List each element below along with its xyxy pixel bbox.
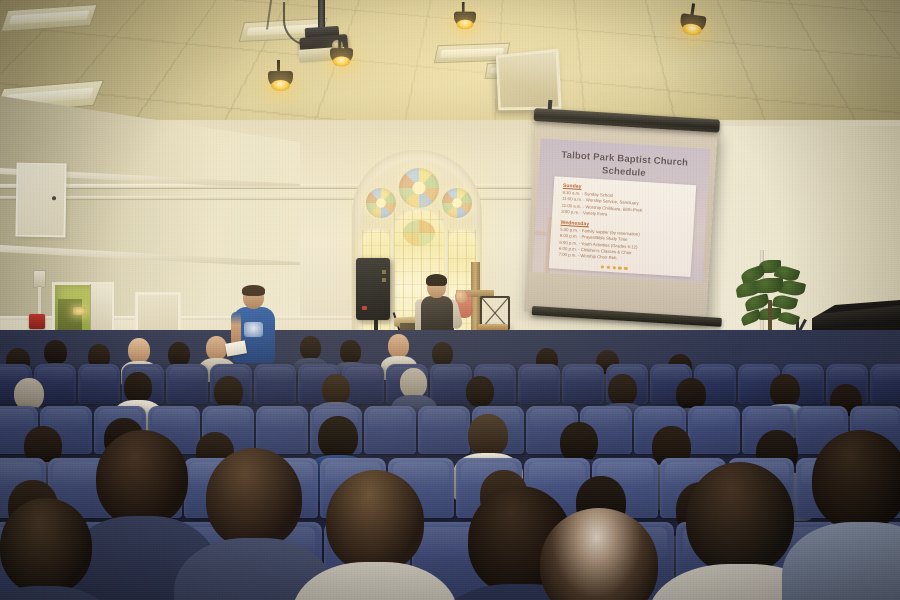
power-led bbox=[362, 306, 367, 310]
pa-speaker bbox=[356, 258, 390, 320]
shirt-graphic bbox=[244, 322, 263, 337]
seat[interactable] bbox=[418, 406, 470, 454]
wednesday-schedule-block: Wednesday 5:30 p.m. - Family supper (by … bbox=[558, 220, 640, 263]
wall-molding bbox=[0, 184, 620, 188]
projector-mount-pole bbox=[318, 0, 325, 30]
hallway-light bbox=[73, 307, 86, 315]
seat[interactable] bbox=[562, 364, 604, 404]
presenter-glasses bbox=[428, 285, 445, 289]
rosette-window bbox=[440, 186, 474, 220]
slide-content-card: Sunday 9:30 a.m. - Sunday School 11:00 a… bbox=[549, 176, 696, 277]
seat[interactable] bbox=[364, 406, 416, 454]
church-sanctuary-photo: Talbot Park Baptist Church Schedule Sund… bbox=[0, 0, 900, 600]
seat[interactable] bbox=[518, 364, 560, 404]
seat[interactable] bbox=[78, 364, 120, 404]
projection-screen: Talbot Park Baptist Church Schedule Sund… bbox=[524, 120, 718, 323]
seat[interactable] bbox=[256, 406, 308, 454]
seat[interactable] bbox=[870, 364, 900, 404]
seat[interactable] bbox=[430, 364, 472, 404]
slide-dot-divider bbox=[601, 265, 628, 270]
projector-cable bbox=[266, 0, 292, 32]
rosette-window bbox=[397, 166, 441, 210]
seat[interactable] bbox=[254, 364, 296, 404]
fire-alarm-pull-station[interactable] bbox=[29, 314, 45, 329]
seat[interactable] bbox=[166, 364, 208, 404]
seat[interactable] bbox=[688, 406, 740, 454]
rosette-window bbox=[364, 186, 398, 220]
wall-access-panel bbox=[15, 163, 66, 238]
plant-canopy bbox=[735, 258, 809, 328]
standing-attendee-blue-shirt bbox=[232, 286, 276, 364]
wall-molding bbox=[0, 196, 620, 199]
sunday-schedule-block: Sunday 9:30 a.m. - Sunday School 11:00 a… bbox=[561, 183, 644, 220]
